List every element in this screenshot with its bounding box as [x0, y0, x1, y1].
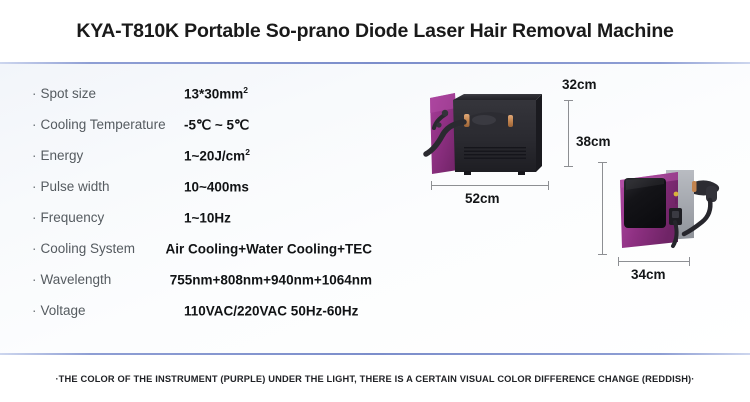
spec-value: 1~20J/cm2	[184, 147, 250, 164]
spec-label: ·Pulse width	[32, 179, 184, 194]
dimension-cap	[598, 162, 607, 163]
dimension-label-side-height: 38cm	[576, 134, 611, 149]
product-image-front	[408, 84, 553, 188]
specification-list: ·Spot size 13*30mm2 ·Cooling Temperature…	[32, 78, 372, 326]
page-title: KYA-T810K Portable So-prano Diode Laser …	[76, 20, 673, 43]
dimension-label-main-width: 52cm	[465, 191, 500, 206]
bullet-icon: ·	[32, 272, 37, 287]
color-disclaimer: ·THE COLOR OF THE INSTRUMENT (PURPLE) UN…	[55, 374, 694, 384]
dimension-line-side-width	[618, 261, 690, 262]
spec-row: ·Cooling System Air Cooling+Water Coolin…	[32, 233, 372, 264]
spec-value: Air Cooling+Water Cooling+TEC	[165, 240, 372, 257]
dimension-cap	[598, 254, 607, 255]
spec-label: ·Frequency	[32, 210, 184, 225]
spec-value: 1~10Hz	[184, 209, 231, 226]
dimension-label-side-width: 34cm	[631, 267, 666, 282]
spec-label: ·Energy	[32, 148, 184, 163]
spec-row: ·Cooling Temperature -5℃ ~ 5℃	[32, 109, 372, 140]
product-image-rear	[610, 164, 728, 254]
spec-label: ·Cooling System	[32, 241, 165, 256]
bullet-icon: ·	[32, 179, 37, 194]
spec-row: ·Voltage 110VAC/220VAC 50Hz-60Hz	[32, 295, 372, 326]
dimension-line-side-height	[602, 162, 603, 255]
spec-row: ·Wavelength 755nm+808nm+940nm+1064nm	[32, 264, 372, 295]
machine-front-illustration	[408, 84, 553, 188]
spec-value: -5℃ ~ 5℃	[184, 116, 249, 134]
dimension-cap	[548, 181, 549, 190]
bullet-icon: ·	[32, 117, 37, 132]
footer: ·THE COLOR OF THE INSTRUMENT (PURPLE) UN…	[0, 355, 750, 402]
spec-label: ·Cooling Temperature	[32, 117, 184, 132]
dimension-cap	[689, 257, 690, 266]
spec-label: ·Spot size	[32, 86, 184, 101]
spec-row: ·Pulse width 10~400ms	[32, 171, 372, 202]
content-area: ·Spot size 13*30mm2 ·Cooling Temperature…	[0, 64, 750, 353]
dimension-cap	[431, 181, 432, 190]
header: KYA-T810K Portable So-prano Diode Laser …	[0, 0, 750, 62]
dimension-cap	[564, 166, 573, 167]
dimension-cap	[618, 257, 619, 266]
bullet-icon: ·	[32, 241, 37, 256]
dimension-line-main-height	[568, 100, 569, 167]
product-spec-card: KYA-T810K Portable So-prano Diode Laser …	[0, 0, 750, 400]
spec-value: 755nm+808nm+940nm+1064nm	[170, 271, 372, 288]
spec-row: ·Energy 1~20J/cm2	[32, 140, 372, 171]
spec-row: ·Frequency 1~10Hz	[32, 202, 372, 233]
spec-value: 10~400ms	[184, 178, 249, 195]
spec-label: ·Voltage	[32, 303, 184, 318]
bullet-icon: ·	[32, 86, 37, 101]
machine-rear-illustration	[610, 164, 728, 254]
spec-row: ·Spot size 13*30mm2	[32, 78, 372, 109]
bullet-icon: ·	[32, 303, 37, 318]
dimension-cap	[564, 100, 573, 101]
bullet-icon: ·	[32, 148, 37, 163]
dimension-line-main-width	[431, 185, 549, 186]
superscript: 2	[245, 147, 250, 157]
spec-value: 110VAC/220VAC 50Hz-60Hz	[184, 302, 358, 319]
dimension-label-main-height: 32cm	[562, 77, 597, 92]
superscript: 2	[243, 85, 248, 95]
spec-value: 13*30mm2	[184, 85, 248, 102]
handpiece-rear	[692, 180, 719, 202]
bullet-icon: ·	[32, 210, 37, 225]
spec-label: ·Wavelength	[32, 272, 170, 287]
